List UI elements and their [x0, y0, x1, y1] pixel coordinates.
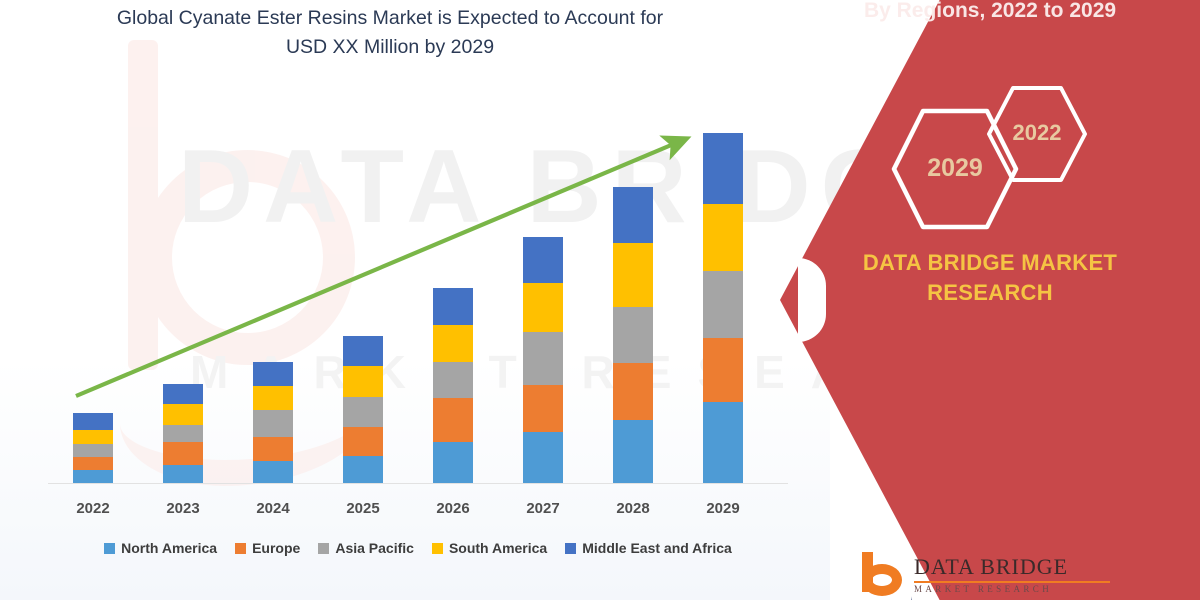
bar-segment — [433, 442, 473, 483]
legend-label: Middle East and Africa — [582, 540, 732, 556]
bar-segment — [613, 420, 653, 483]
legend-item[interactable]: Asia Pacific — [318, 540, 414, 556]
logo-rule — [914, 581, 1110, 583]
legend-label: South America — [449, 540, 547, 556]
hexagon-2022-label: 2022 — [985, 120, 1089, 146]
bar-segment — [253, 410, 293, 437]
bar-2027 — [523, 237, 563, 483]
bar-segment — [433, 398, 473, 442]
bar-segment — [523, 385, 563, 432]
bar-segment — [343, 366, 383, 397]
infographic-canvas: DATA BRIDGE MARKET RESEARCH Global Cyana… — [0, 0, 1200, 600]
logo-tagline: MARKET RESEARCH — [914, 584, 1052, 594]
bar-segment — [343, 456, 383, 483]
logo-name: DATA BRIDGE — [914, 554, 1068, 580]
stacked-bar-chart: 20222023202420252026202720282029 North A… — [0, 0, 820, 600]
bar-segment — [703, 271, 743, 338]
legend-item[interactable]: Middle East and Africa — [565, 540, 732, 556]
bar-segment — [523, 283, 563, 332]
bar-segment — [613, 307, 653, 363]
bar-segment — [73, 470, 113, 483]
brand-name: DATA BRIDGE MARKET RESEARCH — [780, 248, 1200, 308]
bar-segment — [433, 362, 473, 398]
bar-segment — [253, 362, 293, 386]
bar-2023 — [163, 384, 203, 483]
bar-2024 — [253, 362, 293, 483]
legend-swatch-icon — [432, 543, 443, 554]
bar-segment — [523, 432, 563, 483]
brand-line2: RESEARCH — [927, 280, 1053, 305]
x-axis-label-2027: 2027 — [498, 500, 588, 517]
bar-segment — [343, 397, 383, 427]
hexagon-group: 2029 2022 — [780, 84, 1200, 224]
bar-segment — [73, 457, 113, 470]
bar-segment — [433, 288, 473, 325]
bar-segment — [163, 442, 203, 465]
legend-swatch-icon — [235, 543, 246, 554]
bar-segment — [703, 338, 743, 402]
bar-segment — [253, 461, 293, 483]
bar-segment — [613, 243, 653, 307]
x-axis-label-2024: 2024 — [228, 500, 318, 517]
legend-label: Europe — [252, 540, 300, 556]
company-logo: DATA BRIDGE MARKET RESEARCH — [852, 544, 1152, 600]
bar-segment — [433, 325, 473, 362]
legend-item[interactable]: North America — [104, 540, 217, 556]
bar-segment — [73, 444, 113, 457]
bar-segment — [343, 336, 383, 366]
legend-swatch-icon — [565, 543, 576, 554]
bar-segment — [523, 237, 563, 283]
x-axis-label-2025: 2025 — [318, 500, 408, 517]
bar-segment — [703, 402, 743, 483]
x-axis-label-2022: 2022 — [48, 500, 138, 517]
bridge-b-logo-icon — [852, 552, 908, 600]
bar-segment — [163, 465, 203, 483]
legend-label: Asia Pacific — [335, 540, 414, 556]
bar-segment — [613, 187, 653, 243]
bar-2022 — [73, 413, 113, 483]
bar-2026 — [433, 288, 473, 483]
x-axis-label-2026: 2026 — [408, 500, 498, 517]
bar-segment — [343, 427, 383, 456]
panel-subtitle: By Regions, 2022 to 2029 — [780, 0, 1200, 24]
bar-segment — [163, 404, 203, 425]
legend-swatch-icon — [104, 543, 115, 554]
legend-label: North America — [121, 540, 217, 556]
hexagon-2022: 2022 — [985, 84, 1089, 184]
bar-segment — [163, 425, 203, 442]
bar-segment — [163, 384, 203, 404]
bar-segment — [253, 386, 293, 410]
brand-line1: DATA BRIDGE MARKET — [863, 250, 1117, 275]
bar-2029 — [703, 133, 743, 483]
bar-segment — [73, 430, 113, 444]
bar-segment — [613, 363, 653, 420]
bar-segment — [703, 133, 743, 204]
x-axis-line — [48, 483, 788, 484]
legend-swatch-icon — [318, 543, 329, 554]
x-axis-label-2028: 2028 — [588, 500, 678, 517]
bar-2025 — [343, 336, 383, 483]
panel-subtitle-text: By Regions, 2022 to 2029 — [780, 0, 1200, 24]
chart-legend: North AmericaEuropeAsia PacificSouth Ame… — [48, 540, 788, 556]
legend-item[interactable]: Europe — [235, 540, 300, 556]
bar-segment — [523, 332, 563, 385]
x-axis-label-2023: 2023 — [138, 500, 228, 517]
x-axis-label-2029: 2029 — [678, 500, 768, 517]
bar-segment — [703, 204, 743, 271]
bar-2028 — [613, 187, 653, 483]
bar-segment — [253, 437, 293, 461]
bar-segment — [73, 413, 113, 430]
legend-item[interactable]: South America — [432, 540, 547, 556]
